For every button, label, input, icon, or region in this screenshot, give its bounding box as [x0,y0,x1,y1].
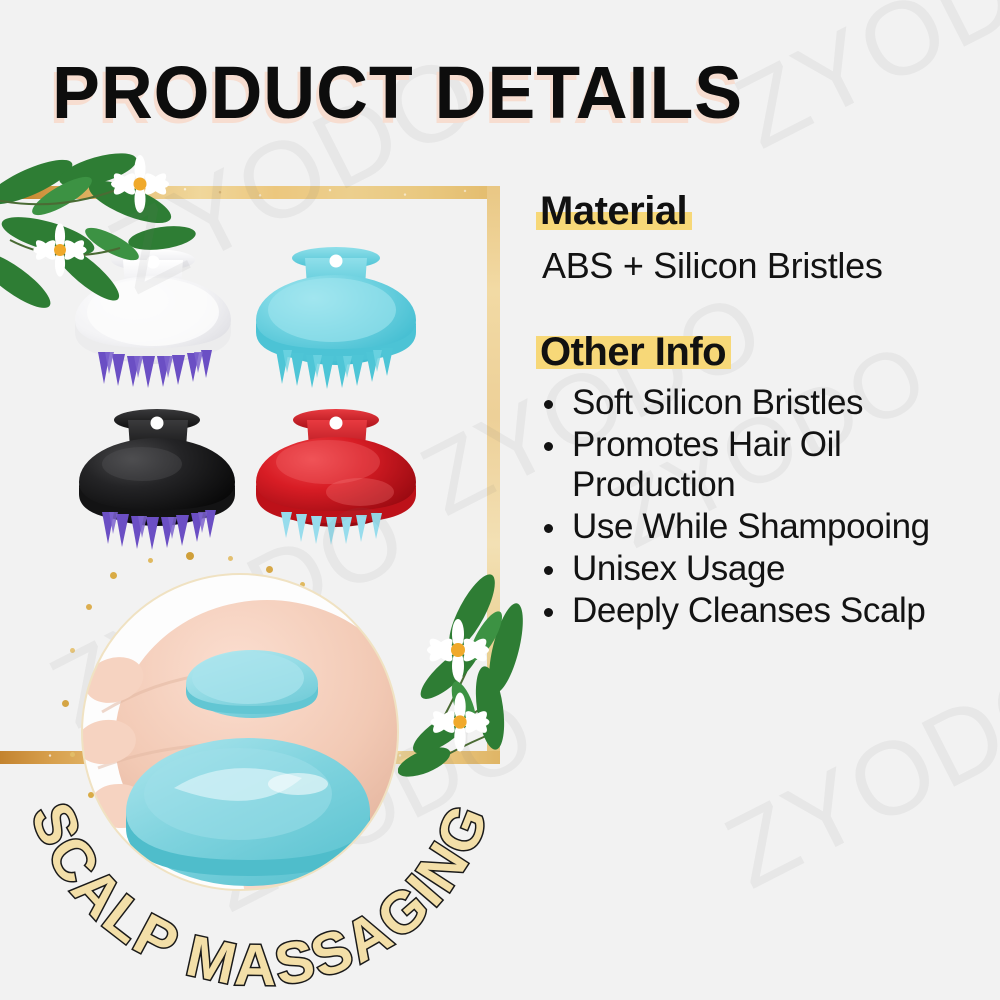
other-info-list: Soft Silicon Bristles Promotes Hair Oil … [536,383,996,630]
other-info-heading: Other Info [536,331,731,373]
watermark-text: ZYODO [708,634,1000,912]
white-scalp-brush [68,228,238,388]
infographic-canvas: ZYODO ZYODO ZYODO ZYODO ZYODO ZYODO ZYOD… [0,0,1000,1000]
confetti-dot [186,552,194,560]
other-info-heading-label: Other Info [540,330,726,374]
page-title: PRODUCT DETAILS [52,56,743,130]
list-item: Deeply Cleanses Scalp [536,591,996,630]
other-info-section: Other Info Soft Silicon Bristles Promote… [536,331,996,630]
red-scalp-brush [248,392,423,550]
watermark-text: ZYODO [718,0,1000,173]
arc-banner-textpath: SCALP MASSAGING [18,794,502,992]
list-item: Use While Shampooing [536,507,996,546]
gold-frame-right [487,186,500,764]
material-value: ABS + Silicon Bristles [542,244,996,287]
list-item: Promotes Hair Oil Production [536,425,996,503]
spec-column: Material ABS + Silicon Bristles Other In… [536,190,996,633]
black-scalp-brush [72,392,242,550]
material-section: Material ABS + Silicon Bristles [536,190,996,287]
turquoise-scalp-brush [248,228,423,390]
list-item: Soft Silicon Bristles [536,383,996,422]
list-item: Unisex Usage [536,549,996,588]
material-heading-label: Material [540,189,687,233]
material-heading: Material [536,190,692,232]
scalp-massaging-arc-banner: SCALP MASSAGING [10,742,510,992]
confetti-dot [228,556,233,561]
arc-banner-text: SCALP MASSAGING [18,794,502,992]
gold-frame-top [0,186,500,199]
